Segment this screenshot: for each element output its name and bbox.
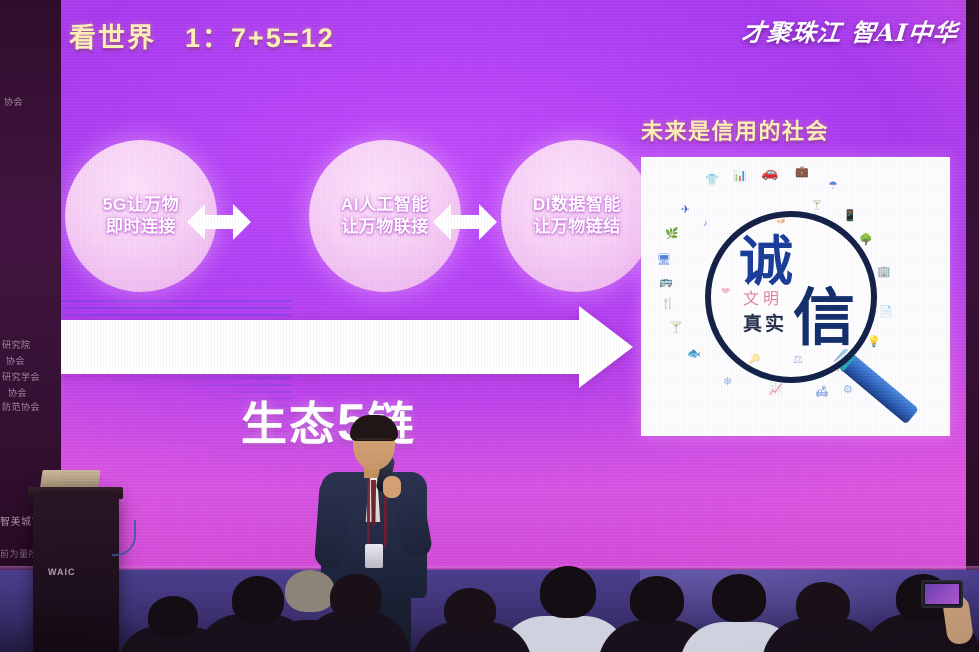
audience-member <box>796 582 850 628</box>
right-section-heading: 未来是信用的社会 <box>641 114 829 146</box>
bulb-icon: 💡 <box>867 337 881 348</box>
concept-circle-5g-line1: 5G让万物 <box>103 194 179 216</box>
concept-circle-ai-line1: AI人工智能 <box>341 194 429 216</box>
speaker-hand <box>383 476 401 498</box>
car-icon: 🚗 <box>761 165 778 179</box>
bus-icon: 🚌 <box>659 277 673 288</box>
chart-icon: 📊 <box>733 171 747 182</box>
sofa-icon: 🛋 <box>815 387 829 398</box>
airplane-icon: ✈ <box>681 205 690 216</box>
presentation-slide: 看世界 1：7+5=12 才聚珠江 智AI中华 5G让万物 即时连接 AI人工智… <box>61 0 966 570</box>
credit-illustration-panel: 🚗 💼 📊 👕 ☂ ✈ 🌿 📱 🌳 🖥 🚌 ❤ 🏢 🍴 <box>641 157 950 436</box>
left-banner-line-6: 防范协会 <box>2 400 40 413</box>
speaker-glasses <box>357 438 391 447</box>
speaker-left-arm <box>314 477 350 569</box>
page-title: 看世界 1：7+5=12 <box>69 16 335 55</box>
event-slogan: 才聚珠江 智AI中华 <box>740 13 960 48</box>
credit-word-wenming: 文明 <box>743 285 783 309</box>
briefcase-icon: 💼 <box>795 167 809 178</box>
credit-word-zhenshi: 真实 <box>743 309 787 336</box>
speaker-badge <box>365 544 383 568</box>
building-icon: 🏢 <box>877 267 891 278</box>
audience-member <box>540 566 596 618</box>
tree-icon: 🌳 <box>859 235 873 246</box>
fish-icon: 🐟 <box>687 349 701 360</box>
shirt-icon: 👕 <box>705 175 719 186</box>
music-icon: ♪ <box>703 219 708 228</box>
concept-circle-ai-line2: 让万物联接 <box>341 216 429 238</box>
credit-word-xin: 信 <box>793 267 855 357</box>
phone-icon <box>921 580 963 608</box>
audience-member <box>444 588 496 632</box>
right-arrow-icon <box>61 306 633 388</box>
left-banner-line-1: 协会 <box>4 95 23 108</box>
led-screen: 看世界 1：7+5=12 才聚珠江 智AI中华 5G让万物 即时连接 AI人工智… <box>61 0 966 570</box>
credit-illustration-canvas: 🚗 💼 📊 👕 ☂ ✈ 🌿 📱 🌳 🖥 🚌 ❤ 🏢 🍴 <box>643 159 948 434</box>
audience-member <box>232 576 284 624</box>
concept-circle-di-line2: 让万物链结 <box>533 216 621 238</box>
double-arrow-icon <box>433 200 497 244</box>
monitor-icon: 🖥 <box>657 255 671 266</box>
gear-icon: ⚙ <box>843 385 853 396</box>
fork-knife-icon: 🍴 <box>661 299 675 310</box>
audience-member <box>148 596 198 638</box>
phone-icon: 📱 <box>843 211 857 222</box>
bar-chart-icon: 📈 <box>769 385 783 396</box>
audience-row <box>0 566 979 652</box>
cocktail-icon: 🍸 <box>669 323 683 334</box>
left-banner-line-5: 协会 <box>8 386 27 399</box>
audience-member <box>630 576 684 624</box>
fan-icon: ❄ <box>723 377 732 388</box>
audience-member <box>330 574 382 620</box>
concept-circle-di: DI数据智能 让万物链结 <box>501 140 653 292</box>
audience-member <box>712 574 766 622</box>
screenshot-root: 协会 研究院 协会 研究学会 协会 防范协会 智美城市 前为量所 林科技 看世界… <box>0 0 979 652</box>
leaf-icon: 🌿 <box>665 229 679 240</box>
audience-member <box>285 570 335 612</box>
phone-screen <box>925 584 959 604</box>
umbrella-icon: ☂ <box>828 181 838 192</box>
concept-circle-di-line1: DI数据智能 <box>533 194 621 216</box>
left-banner-line-4: 研究学会 <box>2 370 40 383</box>
concept-circle-5g-line2: 即时连接 <box>106 216 176 238</box>
double-arrow-icon <box>187 200 251 244</box>
wine-icon: 🍸 <box>811 201 822 210</box>
left-banner-line-2: 研究院 <box>2 338 31 351</box>
document-icon: 📄 <box>879 307 893 318</box>
left-banner-line-3: 协会 <box>6 354 25 367</box>
